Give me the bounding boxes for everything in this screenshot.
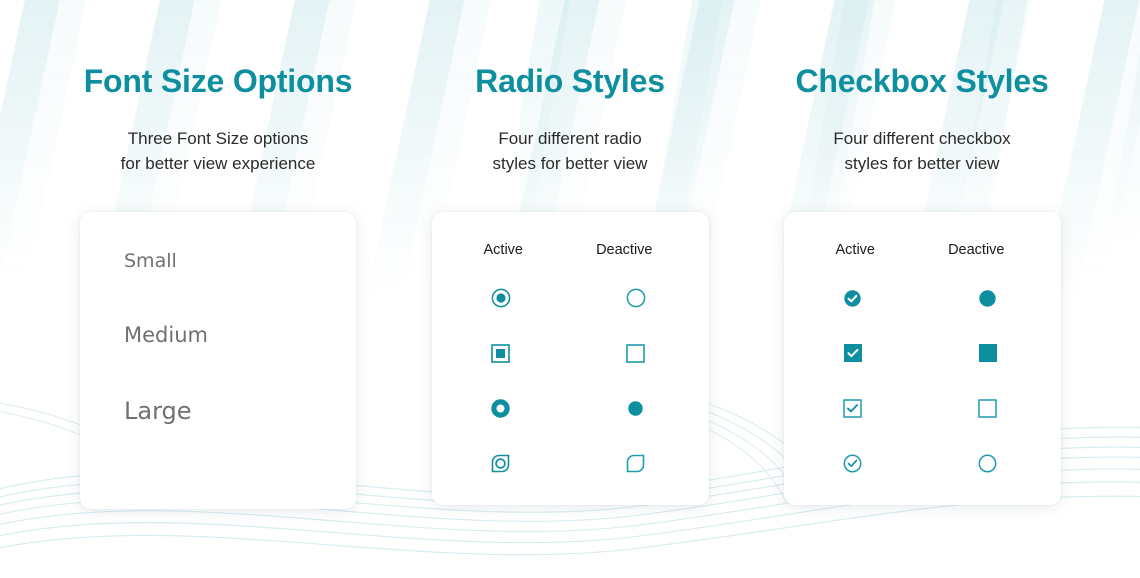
radio-leaf-empty-icon[interactable] bbox=[623, 450, 649, 476]
card-checkbox-styles: Active Deactive bbox=[784, 212, 1061, 505]
checkbox-row-outline-round bbox=[818, 449, 1027, 477]
column-font-size-options: Font Size Options Three Font Size option… bbox=[42, 0, 394, 578]
radio-square-empty-icon[interactable] bbox=[623, 340, 649, 366]
circle-filled-icon[interactable] bbox=[975, 285, 1001, 311]
columns-container: Font Size Options Three Font Size option… bbox=[0, 0, 1140, 578]
column-radio-styles: Radio Styles Four different radio styles… bbox=[394, 0, 746, 578]
checkbox-row-outline-square bbox=[818, 394, 1027, 422]
check-circle-outline-icon[interactable] bbox=[840, 450, 866, 476]
card-radio-styles: Active Deactive bbox=[432, 212, 709, 505]
radio-row-donut bbox=[466, 394, 675, 422]
radio-square-selected-icon[interactable] bbox=[488, 340, 514, 366]
header-active: Active bbox=[484, 242, 524, 258]
radio-circle-selected-icon[interactable] bbox=[488, 285, 514, 311]
radio-dot-filled-icon[interactable] bbox=[623, 395, 649, 421]
square-outline-icon[interactable] bbox=[975, 395, 1001, 421]
radio-donut-selected-icon[interactable] bbox=[488, 395, 514, 421]
font-size-option-large[interactable]: Large bbox=[124, 399, 356, 423]
page-title-font-size-options: Font Size Options bbox=[84, 64, 353, 99]
check-square-filled-icon[interactable] bbox=[840, 340, 866, 366]
radio-circle-empty-icon[interactable] bbox=[623, 285, 649, 311]
font-size-option-small[interactable]: Small bbox=[124, 252, 356, 271]
header-deactive: Deactive bbox=[596, 242, 652, 258]
page-title-checkbox-styles: Checkbox Styles bbox=[795, 64, 1048, 99]
header-deactive: Deactive bbox=[948, 242, 1004, 258]
checkbox-column-headers: Active Deactive bbox=[818, 242, 1027, 258]
radio-row-square bbox=[466, 339, 675, 367]
font-size-option-medium[interactable]: Medium bbox=[124, 325, 356, 346]
subtitle-checkbox-styles: Four different checkbox styles for bette… bbox=[833, 127, 1010, 176]
radio-row-leaf bbox=[466, 449, 675, 477]
card-font-size-options: Small Medium Large bbox=[80, 212, 356, 509]
check-circle-filled-icon[interactable] bbox=[840, 285, 866, 311]
radio-column-headers: Active Deactive bbox=[466, 242, 675, 258]
checkbox-row-square bbox=[818, 339, 1027, 367]
circle-outline-icon[interactable] bbox=[975, 450, 1001, 476]
header-active: Active bbox=[836, 242, 876, 258]
check-square-outline-icon[interactable] bbox=[840, 395, 866, 421]
subtitle-font-size-options: Three Font Size options for better view … bbox=[121, 127, 316, 176]
radio-row-circle bbox=[466, 284, 675, 312]
page-title-radio-styles: Radio Styles bbox=[475, 64, 665, 99]
radio-leaf-selected-icon[interactable] bbox=[488, 450, 514, 476]
square-filled-icon[interactable] bbox=[975, 340, 1001, 366]
subtitle-radio-styles: Four different radio styles for better v… bbox=[493, 127, 648, 176]
checkbox-row-round bbox=[818, 284, 1027, 312]
column-checkbox-styles: Checkbox Styles Four different checkbox … bbox=[746, 0, 1098, 578]
